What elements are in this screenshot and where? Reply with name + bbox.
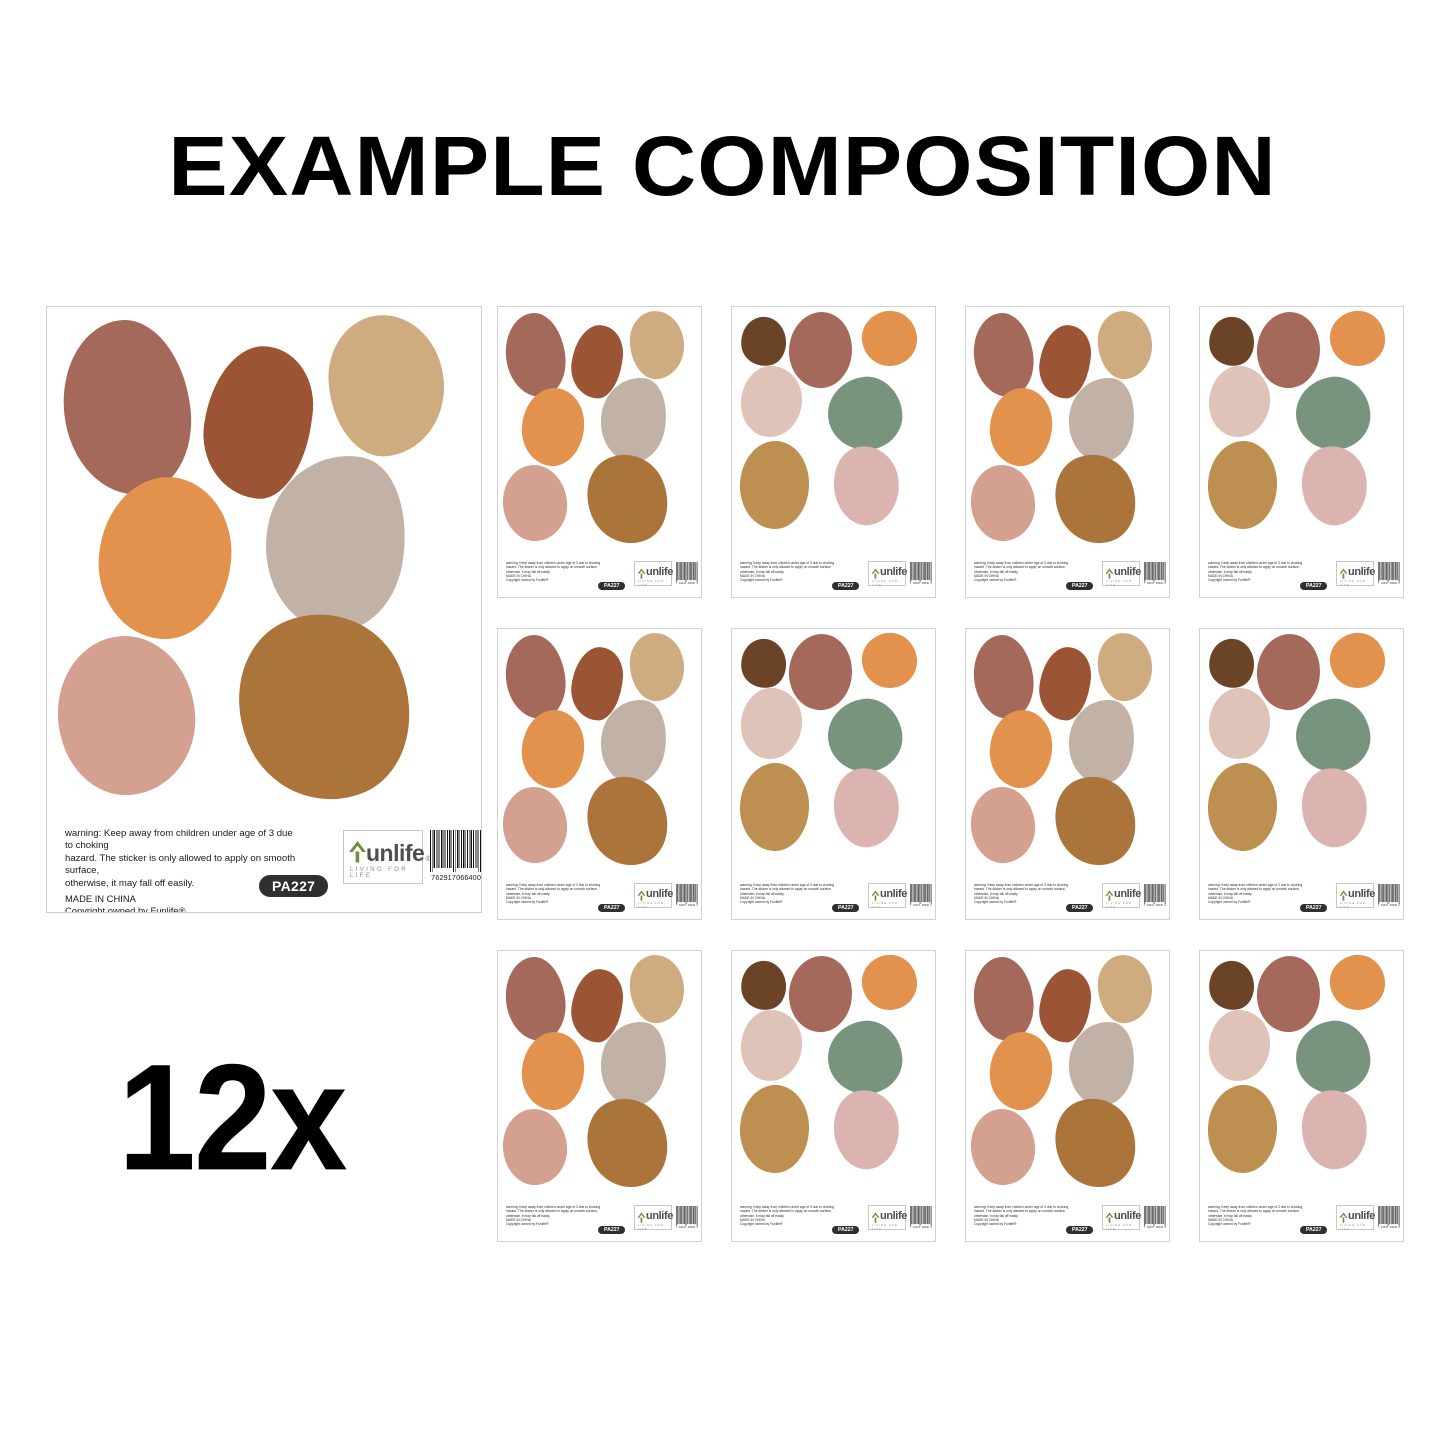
brand-name: unlife xyxy=(880,890,907,899)
barcode-number: 762917066400 xyxy=(1144,904,1166,907)
barcode-bars-icon xyxy=(910,1206,932,1226)
barcode: 762917066400 xyxy=(1378,1206,1400,1232)
barcode-bars-icon xyxy=(676,884,698,904)
blob-pink-large xyxy=(968,784,1038,866)
copyright-label: Copyright owned by Funlife® xyxy=(506,578,548,582)
barcode-bars-icon xyxy=(430,830,482,872)
thumbnail-blob-area xyxy=(732,629,935,919)
brand-logo-row: unlife xyxy=(1339,888,1375,899)
thumbnail-footer: warning: Keep away from children under a… xyxy=(732,1201,935,1241)
warning-text-block: warning: Keep away from children under a… xyxy=(1208,561,1320,582)
barcode-bars-icon xyxy=(1144,562,1166,582)
warning-line-2: hazard. The sticker is only allowed to a… xyxy=(65,853,300,878)
barcode-number: 762917066400 xyxy=(676,904,698,907)
hero-sticker-sheet: warning: Keep away from children under a… xyxy=(46,306,482,913)
blob-softpink-large xyxy=(827,441,905,530)
page-title: EXAMPLE COMPOSITION xyxy=(0,118,1445,215)
blob-tan-medium xyxy=(1096,309,1154,380)
blob-caramel-large xyxy=(574,1086,681,1199)
thumbnail-footer: warning: Keep away from children under a… xyxy=(498,879,701,919)
blob-orange-medium xyxy=(1327,630,1387,691)
barcode: 7 62917 06640 0 xyxy=(430,830,482,886)
brand-name: unlife xyxy=(1348,1212,1375,1221)
thumbnail-blob-area xyxy=(498,629,701,919)
sku-badge: PA227 xyxy=(598,904,625,912)
thumbnail-footer: warning: Keep away from children under a… xyxy=(732,879,935,919)
barcode: 762917066400 xyxy=(910,1206,932,1232)
house-roof-icon xyxy=(1105,566,1114,577)
brand-logo-box: unlifeLIVING FOR LIFE xyxy=(1102,1205,1140,1230)
sticker-sheet-thumbnail: warning: Keep away from children under a… xyxy=(497,950,702,1242)
blob-mustard-large xyxy=(738,440,812,531)
barcode-number: 762917066400 xyxy=(910,1226,932,1229)
house-roof-icon xyxy=(871,888,880,899)
thumbnail-blob-area xyxy=(1200,307,1403,597)
brand-name: unlife xyxy=(880,1212,907,1221)
sku-badge: PA227 xyxy=(259,875,328,897)
barcode-bars-icon xyxy=(910,562,932,582)
brand-name: unlife xyxy=(1114,890,1141,899)
thumbnail-footer: warning: Keep away from children under a… xyxy=(1200,1201,1403,1241)
sku-badge: PA227 xyxy=(1300,1226,1327,1234)
brand-logo-row: unlife xyxy=(1339,1210,1375,1221)
sticker-sheet-thumbnail: warning: Keep away from children under a… xyxy=(497,306,702,598)
warning-text-block: warning: Keep away from children under a… xyxy=(974,561,1086,582)
thumbnail-footer: warning: Keep away from children under a… xyxy=(1200,557,1403,597)
barcode: 762917066400 xyxy=(1378,562,1400,588)
blob-mustard-large xyxy=(1206,440,1280,531)
barcode-number: 762917066400 xyxy=(1378,1226,1400,1229)
blob-terracotta-large xyxy=(502,954,569,1043)
thumbnail-footer: warning: Keep away from children under a… xyxy=(966,1201,1169,1241)
brand-logo-box: unlifeLIVING FOR LIFE xyxy=(868,883,906,908)
blob-caramel-large xyxy=(1042,764,1149,877)
barcode: 762917066400 xyxy=(910,562,932,588)
warning-text-block: warning: Keep away from children under a… xyxy=(65,828,300,913)
brand-name: unlife xyxy=(1114,1212,1141,1221)
blob-mustard-large xyxy=(1206,1084,1280,1175)
barcode-number: 762917066400 xyxy=(1378,582,1400,585)
barcode: 762917066400 xyxy=(676,562,698,588)
blob-darkbrown-small xyxy=(1206,636,1257,691)
sku-badge: PA227 xyxy=(598,582,625,590)
quantity-label: 12x xyxy=(118,1030,346,1205)
thumbnail-blob-area xyxy=(498,307,701,597)
barcode-number: 762917066400 xyxy=(676,582,698,585)
house-roof-icon xyxy=(637,888,646,899)
brand-tagline: LIVING FOR LIFE xyxy=(638,579,671,587)
copyright-label: Copyright owned by Funlife® xyxy=(974,578,1016,582)
blob-tan-medium xyxy=(628,953,686,1024)
sku-badge: PA227 xyxy=(832,904,859,912)
blob-sage-large xyxy=(824,1016,907,1098)
brand-logo-row: unlife xyxy=(1105,1210,1141,1221)
blob-pink-large xyxy=(500,784,570,866)
blob-caramel-large xyxy=(211,588,438,825)
blob-pink-large xyxy=(51,630,201,801)
blob-tan-medium xyxy=(1096,631,1154,702)
brand-logo-row: unlife xyxy=(871,888,907,899)
brand-name: unlife xyxy=(880,568,907,577)
blob-blush-large xyxy=(1207,1008,1273,1084)
blob-mustard-large xyxy=(738,762,812,853)
brand-tagline: LIVING FOR LIFE xyxy=(1340,579,1373,587)
brand-tagline: LIVING FOR LIFE xyxy=(1340,901,1373,909)
blob-mustard-large xyxy=(738,1084,812,1175)
blob-orange-medium xyxy=(859,952,919,1013)
barcode-bars-icon xyxy=(1378,562,1400,582)
thumbnail-blob-area xyxy=(1200,951,1403,1241)
house-roof-icon xyxy=(637,1210,646,1221)
blob-blush-large xyxy=(739,1008,805,1084)
warning-text-block: warning: Keep away from children under a… xyxy=(974,1205,1086,1226)
thumbnail-footer: warning: Keep away from children under a… xyxy=(498,1201,701,1241)
copyright-label: Copyright owned by Funlife® xyxy=(974,900,1016,904)
barcode-number: 762917066400 xyxy=(676,1226,698,1229)
blob-orange-large xyxy=(519,1030,587,1113)
blob-orange-large xyxy=(987,708,1055,791)
brand-logo-row: unlife xyxy=(637,1210,673,1221)
barcode-digit-1: 62917 xyxy=(435,873,456,882)
blob-sage-large xyxy=(1292,1016,1375,1098)
barcode-number: 762917066400 xyxy=(1144,1226,1166,1229)
blob-tan-medium xyxy=(324,311,449,460)
brand-name: unlife xyxy=(1348,890,1375,899)
house-roof-icon xyxy=(348,840,367,863)
sticker-sheet-thumbnail: warning: Keep away from children under a… xyxy=(1199,950,1404,1242)
warning-text-block: warning: Keep away from children under a… xyxy=(506,1205,618,1226)
brand-logo-box: unlifeLIVING FOR LIFE xyxy=(1336,883,1374,908)
barcode: 762917066400 xyxy=(1144,1206,1166,1232)
brand-name: unlife xyxy=(1348,568,1375,577)
blob-blush-large xyxy=(1207,686,1273,762)
sticker-sheet-thumbnail: warning: Keep away from children under a… xyxy=(731,306,936,598)
blob-orange-large xyxy=(987,386,1055,469)
brand-logo-row: unlife xyxy=(1105,566,1141,577)
barcode-bars-icon xyxy=(676,1206,698,1226)
copyright-label: Copyright owned by Funlife® xyxy=(1208,900,1250,904)
copyright-label: Copyright owned by Funlife® xyxy=(506,1222,548,1226)
brand-tagline: LIVING FOR LIFE xyxy=(1106,579,1139,587)
sku-badge: PA227 xyxy=(1066,904,1093,912)
sticker-sheet-thumbnail: warning: Keep away from children under a… xyxy=(497,628,702,920)
house-roof-icon xyxy=(871,566,880,577)
brand-logo-box: unlifeLIVING FOR LIFE xyxy=(634,561,672,586)
thumbnail-footer: warning: Keep away from children under a… xyxy=(1200,879,1403,919)
warning-text-block: warning: Keep away from children under a… xyxy=(740,561,852,582)
house-roof-icon xyxy=(1105,1210,1114,1221)
barcode: 762917066400 xyxy=(1378,884,1400,910)
house-roof-icon xyxy=(637,566,646,577)
house-roof-icon xyxy=(1105,888,1114,899)
copyright-label: Copyright owned by Funlife® xyxy=(740,578,782,582)
blob-orange-medium xyxy=(859,308,919,369)
blob-caramel-large xyxy=(1042,1086,1149,1199)
blob-terracotta-large xyxy=(970,310,1037,399)
blob-pink-large xyxy=(500,1106,570,1188)
sticker-sheet-thumbnail: warning: Keep away from children under a… xyxy=(965,306,1170,598)
brand-tagline: LIVING FOR LIFE xyxy=(872,901,905,909)
blob-sage-large xyxy=(824,372,907,454)
brand-tagline: LIVING FOR LIFE xyxy=(638,901,671,909)
brand-logo-row: unlife xyxy=(871,566,907,577)
thumbnail-blob-area xyxy=(732,951,935,1241)
copyright-label: Copyright owned by Funlife® xyxy=(1208,1222,1250,1226)
copyright-label: Copyright owned by Funlife® xyxy=(740,900,782,904)
blob-terracotta-large xyxy=(970,954,1037,1043)
warning-text-block: warning: Keep away from children under a… xyxy=(740,883,852,904)
thumbnail-blob-area xyxy=(966,307,1169,597)
sku-badge: PA227 xyxy=(1300,904,1327,912)
barcode-digit-3: 0 xyxy=(477,873,481,882)
blob-darkbrown-small xyxy=(1206,314,1257,369)
blob-sage-large xyxy=(824,694,907,776)
blob-blush-large xyxy=(739,364,805,440)
hero-sheet-footer: warning: Keep away from children under a… xyxy=(47,820,481,912)
blob-orange-large xyxy=(519,708,587,791)
thumbnail-blob-area xyxy=(966,629,1169,919)
house-roof-icon xyxy=(1339,566,1348,577)
thumbnail-footer: warning: Keep away from children under a… xyxy=(966,879,1169,919)
thumbnail-footer: warning: Keep away from children under a… xyxy=(498,557,701,597)
blob-terracotta-large xyxy=(56,314,199,501)
blob-caramel-large xyxy=(1042,442,1149,555)
thumbnail-blob-area xyxy=(966,951,1169,1241)
blob-tan-medium xyxy=(628,631,686,702)
brand-logo-box: unlifeLIVING FOR LIFE xyxy=(868,1205,906,1230)
brand-name: unlife xyxy=(646,568,673,577)
brand-logo-row: unlife xyxy=(637,566,673,577)
barcode: 762917066400 xyxy=(676,884,698,910)
blob-orange-large xyxy=(92,471,238,644)
brand-logo-box: unlifeLIVING FOR LIFE xyxy=(1336,561,1374,586)
blob-darkbrown-small xyxy=(738,636,789,691)
blob-mustard-large xyxy=(1206,762,1280,853)
brand-logo-row: unlife xyxy=(1105,888,1141,899)
blob-terracotta-large xyxy=(502,310,569,399)
brand-tagline: LIVING FOR LIFE xyxy=(350,867,422,879)
thumbnail-footer: warning: Keep away from children under a… xyxy=(966,557,1169,597)
sku-badge: PA227 xyxy=(832,582,859,590)
blob-blush-large xyxy=(739,686,805,762)
barcode-number: 762917066400 xyxy=(910,904,932,907)
blob-orange-large xyxy=(987,1030,1055,1113)
barcode: 762917066400 xyxy=(1144,562,1166,588)
brand-tagline: LIVING FOR LIFE xyxy=(638,1223,671,1231)
brand-logo-box: unlifeLIVING FOR LIFE xyxy=(1102,883,1140,908)
blob-blush-large xyxy=(1207,364,1273,440)
sticker-sheet-grid: warning: Keep away from children under a… xyxy=(497,306,1415,1256)
barcode-bars-icon xyxy=(910,884,932,904)
blob-softpink-large xyxy=(827,763,905,852)
warning-line-1: warning: Keep away from children under a… xyxy=(65,828,300,853)
house-roof-icon xyxy=(871,1210,880,1221)
sticker-sheet-thumbnail: warning: Keep away from children under a… xyxy=(965,950,1170,1242)
blob-sage-large xyxy=(1292,694,1375,776)
sku-badge: PA227 xyxy=(832,1226,859,1234)
brand-logo-box: unlifeLIVING FOR LIFE xyxy=(634,883,672,908)
warning-text-block: warning: Keep away from children under a… xyxy=(1208,883,1320,904)
brand-logo-row: unlife xyxy=(637,888,673,899)
brand-logo-box: unlife ® LIVING FOR LIFE xyxy=(343,830,423,884)
blob-softpink-large xyxy=(1295,763,1373,852)
warning-text-block: warning: Keep away from children under a… xyxy=(974,883,1086,904)
blob-darkbrown-small xyxy=(738,958,789,1013)
barcode-bars-icon xyxy=(1144,884,1166,904)
blob-orange-medium xyxy=(1327,952,1387,1013)
blob-tan-medium xyxy=(628,309,686,380)
blob-tan-medium xyxy=(1096,953,1154,1024)
warning-text-block: warning: Keep away from children under a… xyxy=(506,561,618,582)
sticker-sheet-thumbnail: warning: Keep away from children under a… xyxy=(731,628,936,920)
barcode-number: 762917066400 xyxy=(910,582,932,585)
barcode-number: 7 62917 06640 0 xyxy=(430,873,482,882)
house-roof-icon xyxy=(1339,888,1348,899)
sku-badge: PA227 xyxy=(598,1226,625,1234)
barcode-digit-2: 06640 xyxy=(456,873,477,882)
blob-orange-medium xyxy=(859,630,919,691)
copyright-label: Copyright owned by Funlife® xyxy=(974,1222,1016,1226)
thumbnail-blob-area xyxy=(498,951,701,1241)
brand-tagline: LIVING FOR LIFE xyxy=(1106,901,1139,909)
brand-logo-box: unlifeLIVING FOR LIFE xyxy=(868,561,906,586)
barcode: 762917066400 xyxy=(1144,884,1166,910)
barcode-number: 762917066400 xyxy=(1378,904,1400,907)
barcode: 762917066400 xyxy=(910,884,932,910)
blob-orange-large xyxy=(519,386,587,469)
blob-darkbrown-small xyxy=(1206,958,1257,1013)
brand-tagline: LIVING FOR LIFE xyxy=(872,579,905,587)
brand-name: unlife xyxy=(646,890,673,899)
brand-tagline: LIVING FOR LIFE xyxy=(872,1223,905,1231)
brand-name: unlife xyxy=(1114,568,1141,577)
blob-pink-large xyxy=(500,462,570,544)
blob-pink-large xyxy=(968,1106,1038,1188)
brand-tagline: LIVING FOR LIFE xyxy=(1106,1223,1139,1231)
sticker-sheet-thumbnail: warning: Keep away from children under a… xyxy=(1199,306,1404,598)
blob-pink-large xyxy=(968,462,1038,544)
blob-softpink-large xyxy=(1295,441,1373,530)
blob-sage-large xyxy=(1292,372,1375,454)
barcode-bars-icon xyxy=(1378,884,1400,904)
thumbnail-footer: warning: Keep away from children under a… xyxy=(732,557,935,597)
warning-text-block: warning: Keep away from children under a… xyxy=(506,883,618,904)
copyright-label: Copyright owned by Funlife® xyxy=(1208,578,1250,582)
thumbnail-blob-area xyxy=(732,307,935,597)
blob-orange-medium xyxy=(1327,308,1387,369)
blob-terracotta-large xyxy=(970,632,1037,721)
sticker-sheet-thumbnail: warning: Keep away from children under a… xyxy=(965,628,1170,920)
brand-logo-row: unlife xyxy=(871,1210,907,1221)
brand-name: unlife xyxy=(646,1212,673,1221)
brand-logo-box: unlifeLIVING FOR LIFE xyxy=(1102,561,1140,586)
sticker-sheet-thumbnail: warning: Keep away from children under a… xyxy=(1199,628,1404,920)
house-roof-icon xyxy=(1339,1210,1348,1221)
barcode-bars-icon xyxy=(676,562,698,582)
blob-softpink-large xyxy=(1295,1085,1373,1174)
brand-name: unlife xyxy=(366,843,424,863)
barcode-bars-icon xyxy=(1378,1206,1400,1226)
thumbnail-blob-area xyxy=(1200,629,1403,919)
sku-badge: PA227 xyxy=(1066,582,1093,590)
blob-caramel-large xyxy=(574,442,681,555)
brand-logo-box: unlifeLIVING FOR LIFE xyxy=(634,1205,672,1230)
brand-logo-row: unlife ® xyxy=(348,840,431,863)
brand-logo-row: unlife xyxy=(1339,566,1375,577)
brand-logo-box: unlifeLIVING FOR LIFE xyxy=(1336,1205,1374,1230)
blob-caramel-large xyxy=(574,764,681,877)
barcode-bars-icon xyxy=(1144,1206,1166,1226)
copyright-label: Copyright owned by Funlife® xyxy=(506,900,548,904)
barcode: 762917066400 xyxy=(676,1206,698,1232)
sku-badge: PA227 xyxy=(1066,1226,1093,1234)
copyright-label: Copyright owned by Funlife® xyxy=(65,905,300,913)
barcode-number: 762917066400 xyxy=(1144,582,1166,585)
brand-tagline: LIVING FOR LIFE xyxy=(1340,1223,1373,1231)
warning-text-block: warning: Keep away from children under a… xyxy=(740,1205,852,1226)
blob-softpink-large xyxy=(827,1085,905,1174)
sku-badge: PA227 xyxy=(1300,582,1327,590)
warning-text-block: warning: Keep away from children under a… xyxy=(1208,1205,1320,1226)
copyright-label: Copyright owned by Funlife® xyxy=(740,1222,782,1226)
sticker-sheet-thumbnail: warning: Keep away from children under a… xyxy=(731,950,936,1242)
blob-darkbrown-small xyxy=(738,314,789,369)
blob-terracotta-large xyxy=(502,632,569,721)
